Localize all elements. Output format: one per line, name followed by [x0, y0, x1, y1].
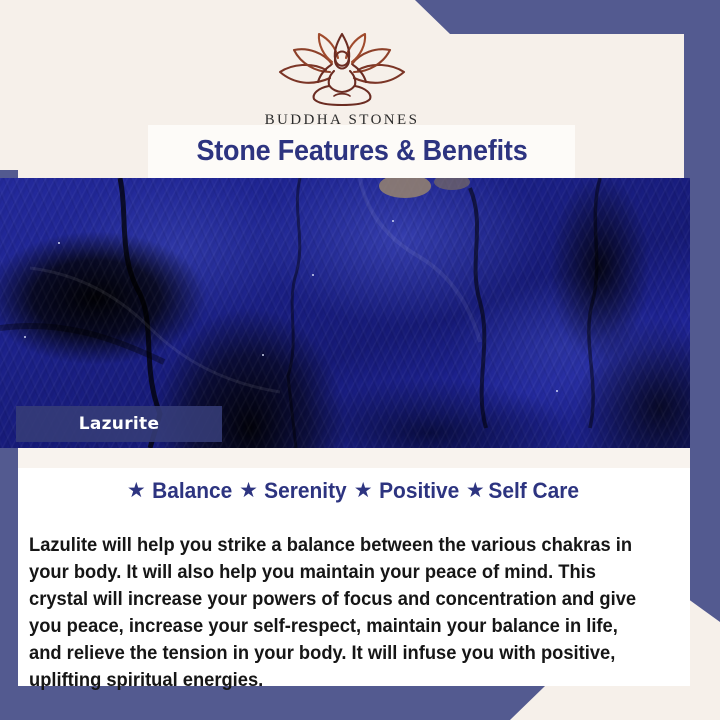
- benefit-label: Self Care: [488, 478, 579, 504]
- benefits-row: ★ Balance ★ Serenity ★ Positive ★ Self C…: [18, 478, 690, 504]
- star-icon: ★: [466, 480, 485, 501]
- stone-benefits-infographic: BUDDHA STONES Stone Features & Benefits …: [0, 0, 720, 720]
- benefit-serenity: ★ Serenity: [239, 478, 349, 504]
- star-icon: ★: [239, 480, 258, 501]
- star-icon: ★: [354, 480, 373, 501]
- star-icon: ★: [127, 480, 146, 501]
- benefit-self-care: ★ Self Care: [466, 478, 581, 504]
- benefit-label: Balance: [152, 478, 232, 504]
- stone-sparkle: [556, 390, 558, 392]
- card-top-strip: [18, 448, 690, 468]
- lotus-meditation-icon: [268, 28, 416, 106]
- stone-name-label: Lazurite: [79, 414, 160, 434]
- page-title: Stone Features & Benefits: [196, 135, 527, 168]
- benefit-label: Positive: [379, 478, 459, 504]
- brand-logo: BUDDHA STONES: [0, 28, 684, 129]
- stone-description: Lazulite will help you strike a balance …: [29, 532, 648, 694]
- title-plate: Stone Features & Benefits: [148, 125, 575, 178]
- benefit-label: Serenity: [264, 478, 346, 504]
- stone-sparkle: [262, 354, 264, 356]
- stone-sparkle: [24, 336, 26, 338]
- benefit-positive: ★ Positive: [354, 478, 461, 504]
- stone-name-badge: Lazurite: [16, 406, 222, 442]
- content-card: ★ Balance ★ Serenity ★ Positive ★ Self C…: [18, 448, 690, 686]
- benefit-balance: ★ Balance: [127, 478, 234, 504]
- stone-sparkle: [392, 220, 394, 222]
- stone-sparkle: [312, 274, 314, 276]
- stone-sparkle: [58, 242, 60, 244]
